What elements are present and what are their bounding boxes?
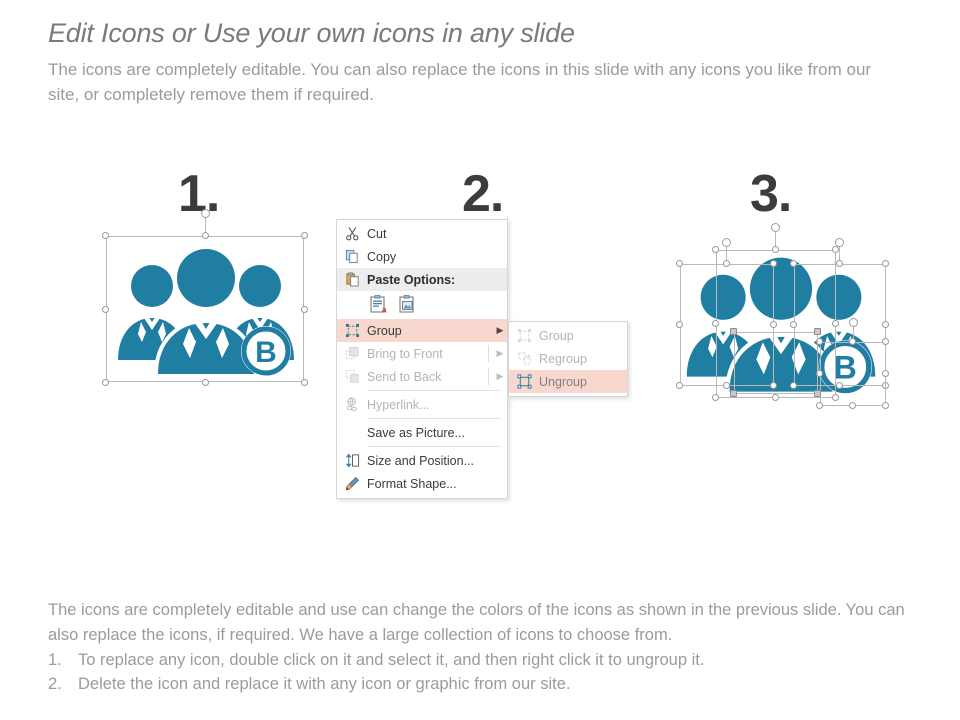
icon-stage-grouped[interactable]: B [108, 238, 304, 382]
send-to-back-icon [337, 365, 367, 388]
group-handles-icon [337, 319, 367, 342]
resize-handle[interactable] [790, 260, 797, 267]
submenu-item-ungroup[interactable]: Ungroup [509, 370, 627, 393]
resize-handle[interactable] [832, 320, 839, 327]
hyperlink-globe-icon [337, 393, 367, 416]
list-item-number: 1. [48, 648, 64, 673]
rotation-handle-left-person[interactable] [722, 238, 731, 247]
rotation-handle-center-person[interactable] [771, 223, 780, 232]
resize-handle[interactable] [723, 382, 730, 389]
slide-footer: The icons are completely editable and us… [48, 598, 938, 697]
context-menu-item-label: Copy [367, 250, 493, 264]
resize-handle[interactable] [816, 402, 823, 409]
resize-handle[interactable] [816, 338, 823, 345]
resize-handle-se[interactable] [301, 379, 308, 386]
resize-handle-w[interactable] [102, 306, 109, 313]
resize-handle[interactable] [730, 328, 737, 335]
list-item: 2. Delete the icon and replace it with a… [48, 672, 938, 697]
rotation-handle-badge[interactable] [849, 318, 858, 327]
clipboard-icon [337, 268, 367, 291]
submenu-item-label: Group [539, 329, 627, 343]
resize-handle[interactable] [832, 394, 839, 401]
resize-handle[interactable] [836, 260, 843, 267]
resize-handle[interactable] [832, 246, 839, 253]
rotation-handle-right-person[interactable] [835, 238, 844, 247]
resize-handle[interactable] [882, 402, 889, 409]
step-numeral-2: 2. [462, 168, 503, 220]
resize-handle[interactable] [882, 338, 889, 345]
page-title: Edit Icons or Use your own icons in any … [48, 18, 928, 49]
resize-handle-s[interactable] [202, 379, 209, 386]
resize-handle-ne[interactable] [301, 232, 308, 239]
scissors-icon [337, 222, 367, 245]
list-item-text: To replace any icon, double click on it … [78, 648, 704, 673]
context-menu-item-label: Size and Position... [367, 454, 493, 468]
paste-picture-icon[interactable] [398, 294, 418, 317]
resize-handle[interactable] [712, 394, 719, 401]
resize-handle-nw[interactable] [102, 232, 109, 239]
context-menu-item-label: Save as Picture... [367, 426, 493, 440]
resize-handle[interactable] [770, 260, 777, 267]
paste-keep-text-only-icon[interactable]: a [369, 294, 389, 317]
context-menu-item-label: Bring to Front [367, 347, 493, 361]
resize-handle[interactable] [882, 260, 889, 267]
rotation-handle[interactable] [201, 209, 210, 218]
resize-handle[interactable] [882, 382, 889, 389]
submenu-item-label: Ungroup [539, 375, 627, 389]
resize-handle[interactable] [723, 260, 730, 267]
resize-handle[interactable] [836, 382, 843, 389]
no-icon-placeholder [337, 421, 367, 444]
step-numeral-1: 1. [178, 168, 219, 220]
resize-handle[interactable] [712, 320, 719, 327]
resize-handle[interactable] [712, 246, 719, 253]
footer-paragraph: The icons are completely editable and us… [48, 598, 938, 648]
resize-handle-n[interactable] [202, 232, 209, 239]
submenu-item-group: Group [509, 324, 627, 347]
icon-stage-ungrouped[interactable]: B [676, 238, 886, 408]
context-menu-item-send-to-back: Send to Back ▶ [337, 365, 507, 388]
resize-handle[interactable] [676, 321, 683, 328]
svg-text:a: a [382, 305, 387, 314]
step-numeral-3: 3. [750, 168, 791, 220]
resize-handle[interactable] [849, 338, 856, 345]
submenu-item-regroup: Regroup [509, 347, 627, 370]
resize-handle[interactable] [814, 390, 821, 397]
resize-handle[interactable] [882, 321, 889, 328]
resize-handle[interactable] [676, 260, 683, 267]
resize-handle[interactable] [772, 246, 779, 253]
resize-handle[interactable] [770, 382, 777, 389]
context-menu-item-save-as-picture[interactable]: Save as Picture... [337, 421, 507, 444]
context-menu-item-label: Paste Options: [367, 273, 493, 287]
context-menu-item-hyperlink: Hyperlink... [337, 393, 507, 416]
menu-divider-vertical [488, 368, 489, 385]
list-item: 1. To replace any icon, double click on … [48, 648, 938, 673]
submenu-item-label: Regroup [539, 352, 627, 366]
context-menu-item-group[interactable]: Group ▶ [337, 319, 507, 342]
page-subtitle: The icons are completely editable. You c… [48, 58, 888, 107]
context-menu-item-label: Hyperlink... [367, 398, 493, 412]
menu-separator [367, 446, 501, 447]
ungroup-icon [509, 370, 539, 393]
resize-handle[interactable] [676, 382, 683, 389]
footer-instruction-list: 1. To replace any icon, double click on … [48, 648, 938, 698]
menu-divider-vertical [488, 345, 489, 362]
context-menu-item-label: Send to Back [367, 370, 493, 384]
bring-to-front-icon [337, 342, 367, 365]
size-position-icon [337, 449, 367, 472]
context-menu-item-label: Format Shape... [367, 477, 493, 491]
context-menu-item-bring-to-front: Bring to Front ▶ [337, 342, 507, 365]
resize-handle[interactable] [790, 382, 797, 389]
chevron-right-icon: ▶ [493, 349, 507, 358]
menu-separator [367, 418, 501, 419]
context-menu-item-copy[interactable]: Copy [337, 245, 507, 268]
group-submenu[interactable]: Group Regroup [508, 321, 628, 397]
regroup-icon [509, 347, 539, 370]
resize-handle[interactable] [730, 390, 737, 397]
list-item-number: 2. [48, 672, 64, 697]
resize-handle-sw[interactable] [102, 379, 109, 386]
chevron-right-icon: ▶ [493, 372, 507, 381]
context-menu[interactable]: Cut Copy Paste Options: [336, 219, 508, 499]
svg-text:B: B [255, 336, 277, 369]
context-menu-item-format-shape[interactable]: Format Shape... [337, 472, 507, 495]
context-menu-item-size-and-position[interactable]: Size and Position... [337, 449, 507, 472]
svg-text:B: B [834, 350, 857, 386]
context-menu-item-label: Cut [367, 227, 493, 241]
resize-handle-e[interactable] [301, 306, 308, 313]
chevron-right-icon: ▶ [493, 326, 507, 335]
resize-handle[interactable] [770, 321, 777, 328]
resize-handle[interactable] [882, 370, 889, 377]
resize-handle[interactable] [814, 328, 821, 335]
context-menu-item-paste-options: Paste Options: [337, 268, 507, 291]
slide-canvas: Edit Icons or Use your own icons in any … [0, 0, 960, 720]
resize-handle[interactable] [849, 402, 856, 409]
resize-handle[interactable] [772, 394, 779, 401]
group-handles-icon [509, 324, 539, 347]
copy-pages-icon [337, 245, 367, 268]
paste-options-row[interactable]: a [337, 291, 507, 319]
context-menu-item-cut[interactable]: Cut [337, 222, 507, 245]
resize-handle[interactable] [790, 321, 797, 328]
list-item-text: Delete the icon and replace it with any … [78, 672, 571, 697]
menu-separator [367, 390, 501, 391]
business-team-icon[interactable]: B [108, 238, 304, 382]
resize-handle[interactable] [816, 370, 823, 377]
paintbrush-icon [337, 472, 367, 495]
slide-header: Edit Icons or Use your own icons in any … [48, 18, 928, 107]
context-menu-item-label: Group [367, 324, 493, 338]
